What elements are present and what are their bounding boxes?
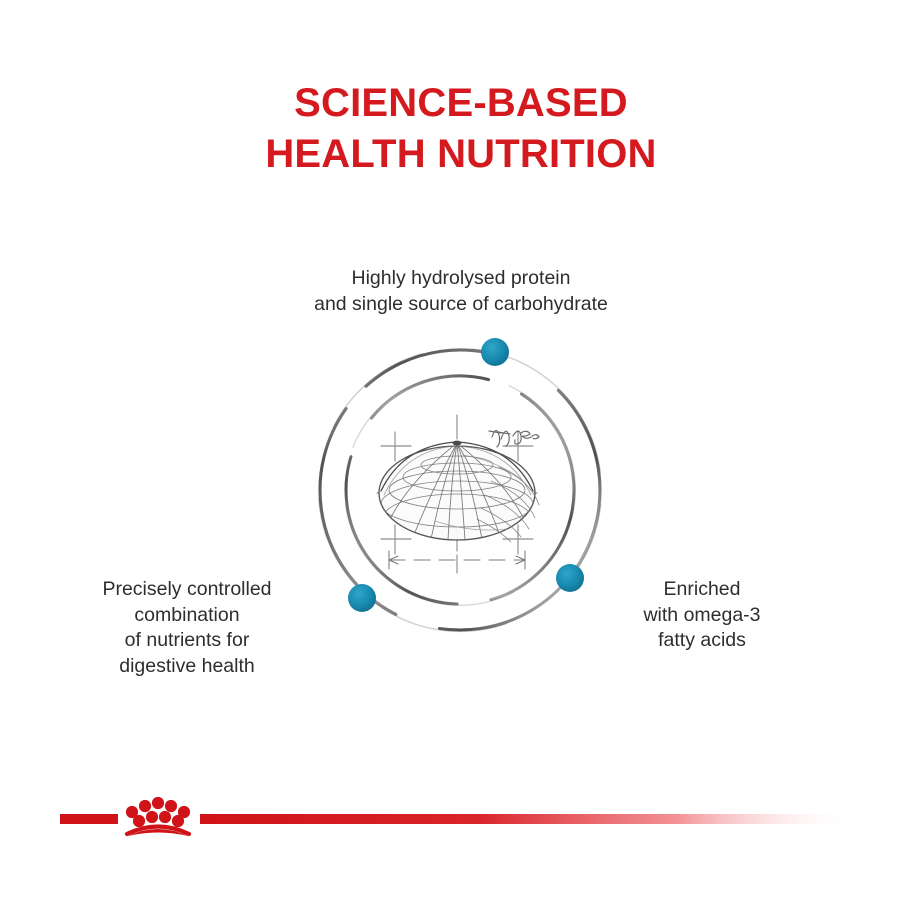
brand-footer bbox=[0, 786, 922, 856]
page-title-line-2: HEALTH NUTRITION bbox=[0, 129, 922, 180]
marker-dot-top[interactable] bbox=[481, 338, 509, 366]
brand-rule-right bbox=[200, 814, 860, 824]
product-feature-panel: SCIENCE-BASED HEALTH NUTRITION Highly hy… bbox=[0, 0, 922, 922]
marker-dot-left[interactable] bbox=[348, 584, 376, 612]
handwritten-annotation bbox=[489, 430, 539, 447]
kibble-wireframe-sketch bbox=[379, 441, 539, 542]
feature-caption-top: Highly hydrolysed protein and single sou… bbox=[231, 266, 691, 317]
page-title-line-1: SCIENCE-BASED bbox=[0, 78, 922, 129]
kibble-science-diagram bbox=[285, 315, 635, 665]
royal-canin-crown-logo bbox=[126, 797, 190, 836]
feature-caption-left: Precisely controlled combination of nutr… bbox=[56, 577, 318, 680]
marker-dot-right[interactable] bbox=[556, 564, 584, 592]
page-title: SCIENCE-BASED HEALTH NUTRITION bbox=[0, 78, 922, 180]
brand-rule-left bbox=[60, 814, 118, 824]
